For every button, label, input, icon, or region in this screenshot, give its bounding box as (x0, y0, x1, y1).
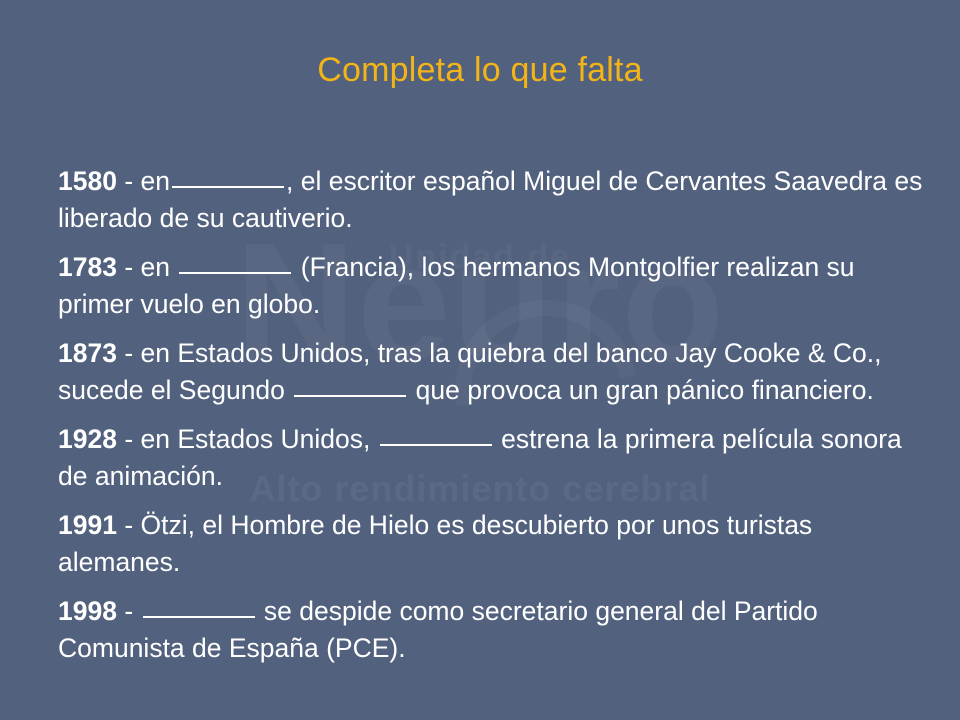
page-title: Completa lo que falta (0, 51, 960, 90)
entry-text-after: , el escritor español Miguel de Cervante… (58, 166, 922, 233)
fill-in-blank[interactable] (143, 616, 255, 618)
entry-dash: - (124, 166, 133, 196)
entry-year: 1991 (58, 510, 117, 540)
entry-dash: - (124, 252, 133, 282)
entry-dash: - (124, 338, 133, 368)
list-item: 1580 - en, el escritor español Miguel de… (58, 163, 936, 237)
entry-text-before: Ötzi, el Hombre de Hielo es descubierto … (58, 510, 812, 577)
entry-year: 1783 (58, 252, 117, 282)
slide-canvas: Neuro Unidad de Alto rendimiento cerebra… (0, 0, 960, 720)
fill-in-blank[interactable] (380, 444, 492, 446)
entry-text-after: que provoca un gran pánico financiero. (416, 375, 874, 405)
list-item: 1783 - en (Francia), los hermanos Montgo… (58, 249, 936, 323)
entry-text-after: (Francia), los hermanos Montgolfier real… (58, 252, 855, 319)
list-item: 1998 - se despide como secretario genera… (58, 593, 936, 667)
entry-year: 1580 (58, 166, 117, 196)
entry-text-before: en Estados Unidos, (141, 424, 371, 454)
entry-text-before: en (141, 252, 170, 282)
entry-year: 1873 (58, 338, 117, 368)
entry-year: 1928 (58, 424, 117, 454)
entry-year: 1998 (58, 596, 117, 626)
entry-text-before: en (141, 166, 170, 196)
list-item: 1928 - en Estados Unidos, estrena la pri… (58, 421, 936, 495)
timeline-list: 1580 - en, el escritor español Miguel de… (58, 163, 936, 667)
list-item: 1873 - en Estados Unidos, tras la quiebr… (58, 335, 936, 409)
entry-dash: - (124, 424, 133, 454)
entry-text-after: se despide como secretario general del P… (58, 596, 818, 663)
entry-dash: - (124, 510, 133, 540)
entry-dash: - (124, 596, 133, 626)
fill-in-blank[interactable] (179, 272, 291, 274)
fill-in-blank[interactable] (294, 395, 406, 397)
fill-in-blank[interactable] (172, 186, 284, 188)
list-item: 1991 - Ötzi, el Hombre de Hielo es descu… (58, 507, 936, 581)
